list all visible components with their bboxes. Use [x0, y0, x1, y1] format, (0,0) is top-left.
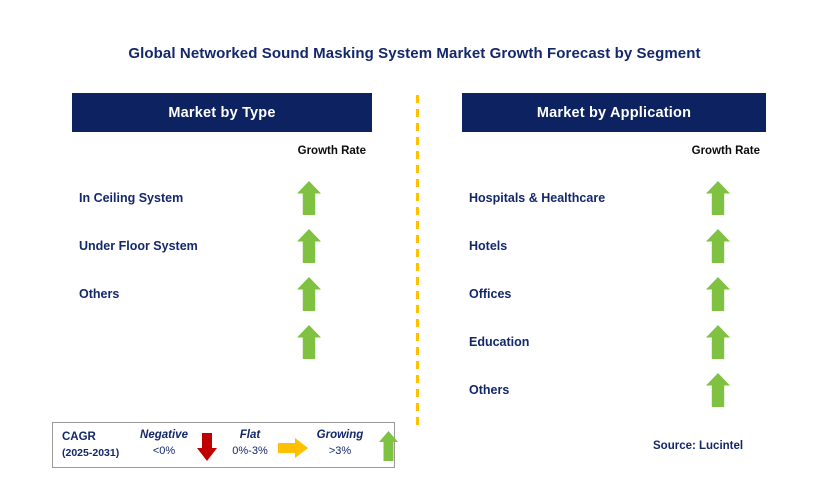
legend-cagr-title: CAGR (2025-2031): [62, 429, 119, 461]
legend-cagr-label: CAGR: [62, 431, 96, 443]
table-row[interactable]: Others: [462, 366, 766, 414]
up-arrow-icon: [705, 276, 731, 312]
segment-label: Others: [469, 383, 509, 397]
segment-rows-left: In Ceiling System Under Floor System Oth…: [72, 174, 372, 366]
table-row[interactable]: [72, 318, 372, 366]
up-arrow-icon: [705, 372, 731, 408]
legend-item-value: 0%-3%: [217, 443, 283, 459]
segment-rows-right: Hospitals & Healthcare Hotels Offices: [462, 174, 766, 414]
up-arrow-icon: [705, 228, 731, 264]
segment-label: Hotels: [469, 239, 507, 253]
legend-item-label: Negative: [131, 428, 197, 443]
segment-label: Others: [79, 287, 119, 301]
legend-item-label: Flat: [217, 428, 283, 443]
table-row[interactable]: Hotels: [462, 222, 766, 270]
up-arrow-icon: [296, 180, 322, 216]
up-arrow-icon: [378, 430, 399, 462]
legend-item-flat: Flat 0%-3%: [217, 428, 283, 459]
legend-item-growing: Growing >3%: [305, 428, 375, 459]
legend-item-negative: Negative <0%: [131, 428, 197, 459]
panel-market-by-type: Market by Type Growth Rate In Ceiling Sy…: [72, 93, 372, 132]
table-row[interactable]: In Ceiling System: [72, 174, 372, 222]
table-row[interactable]: Under Floor System: [72, 222, 372, 270]
panel-header-market-by-type: Market by Type: [72, 93, 372, 132]
up-arrow-icon: [296, 228, 322, 264]
legend-item-label: Growing: [305, 428, 375, 443]
table-row[interactable]: Hospitals & Healthcare: [462, 174, 766, 222]
table-row[interactable]: Education: [462, 318, 766, 366]
up-arrow-icon: [705, 180, 731, 216]
segment-label: In Ceiling System: [79, 191, 183, 205]
up-arrow-icon: [296, 276, 322, 312]
source-attribution: Source: Lucintel: [653, 440, 743, 452]
segment-label: Hospitals & Healthcare: [469, 191, 605, 205]
panel-header-market-by-application: Market by Application: [462, 93, 766, 132]
legend-item-value: >3%: [305, 443, 375, 459]
table-row[interactable]: Offices: [462, 270, 766, 318]
up-arrow-icon: [296, 324, 322, 360]
legend-box: CAGR (2025-2031) Negative <0% Flat 0%-3%: [52, 422, 395, 468]
infographic-root: Global Networked Sound Masking System Ma…: [0, 0, 829, 496]
growth-rate-column-label-right: Growth Rate: [692, 145, 760, 157]
legend-cagr-period: (2025-2031): [62, 445, 119, 461]
segment-label: Under Floor System: [79, 239, 198, 253]
panel-market-by-application: Market by Application Growth Rate Hospit…: [462, 93, 766, 132]
segment-label: Offices: [469, 287, 511, 301]
page-title: Global Networked Sound Masking System Ma…: [0, 45, 829, 62]
growth-rate-column-label-left: Growth Rate: [298, 145, 366, 157]
table-row[interactable]: Others: [72, 270, 372, 318]
up-arrow-icon: [705, 324, 731, 360]
vertical-dashed-divider: [416, 95, 419, 425]
legend-item-value: <0%: [131, 443, 197, 459]
down-arrow-icon: [196, 432, 218, 462]
segment-label: Education: [469, 335, 529, 349]
